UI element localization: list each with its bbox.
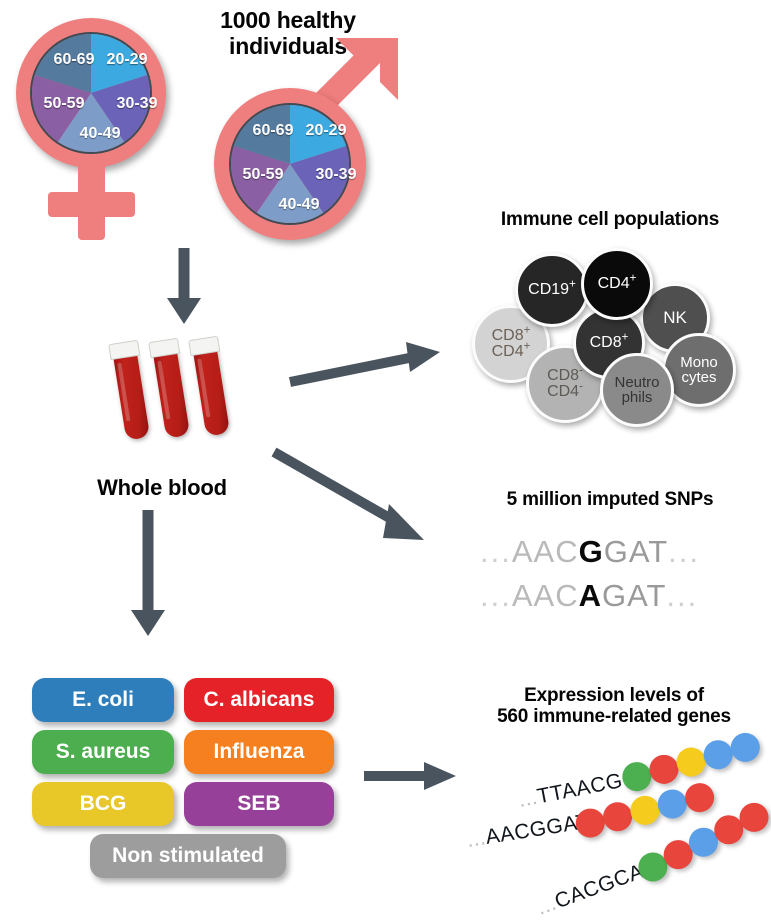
stimulation-pill-c-albicans[interactable]: C. albicans	[184, 678, 334, 722]
snp-ellipsis-right: ...	[668, 534, 700, 569]
female-pie-label-40-49: 40-49	[80, 125, 121, 143]
stimulation-pill-non-stimulated[interactable]: Non stimulated	[90, 834, 286, 878]
snp-panel-title: 5 million imputed SNPs	[465, 489, 755, 510]
male-pie-label-60-69: 60-69	[253, 122, 294, 140]
snp-prefix: AAC	[512, 534, 579, 569]
stimulation-pill-label: S. aureus	[56, 740, 151, 764]
immune-cell-label: CD19+	[528, 282, 576, 298]
snp-ellipsis-left: ...	[480, 534, 512, 569]
immune-cell-neutrophils: Neutro phils	[600, 353, 674, 427]
snp-prefix: AAC	[512, 578, 579, 613]
immune-cell-cd19: CD19+	[515, 253, 589, 327]
immune-cell-label-line2: cytes	[681, 370, 716, 385]
expression-strands: ...TTAACGG ...AACGGAT ...CACGCAA	[440, 740, 771, 922]
snp-variant-base: G	[579, 534, 604, 569]
arrow-cohort-to-blood	[162, 248, 206, 328]
male-pie-label-40-49: 40-49	[279, 196, 320, 214]
immune-cell-label-line2: phils	[622, 390, 653, 405]
stimulation-pill-label: Influenza	[213, 740, 304, 764]
stimulation-pill-e-coli[interactable]: E. coli	[32, 678, 174, 722]
stimulation-pill-label: SEB	[237, 792, 280, 816]
snp-ellipsis-left: ...	[480, 578, 512, 613]
stimulation-pill-label: E. coli	[72, 688, 134, 712]
expression-title-line1: Expression levels of	[458, 685, 770, 706]
snp-sequences: ...AACGGAT... ...AACAGAT...	[480, 528, 750, 628]
male-pie-label-20-29: 20-29	[306, 122, 347, 140]
whole-blood-label: Whole blood	[62, 476, 262, 501]
immune-cell-label: CD8+	[590, 335, 629, 351]
immune-cell-label-line1: CD8-	[547, 368, 583, 384]
snp-sequence-row: ...AACAGAT...	[480, 578, 698, 614]
expression-title-line2: 560 immune-related genes	[458, 706, 770, 727]
immune-cell-label-line2: CD4-	[547, 384, 583, 400]
stimulation-pill-bcg[interactable]: BCG	[32, 782, 174, 826]
immune-cell-label-line2: CD4+	[492, 344, 531, 360]
snp-sequence-row: ...AACGGAT...	[480, 534, 700, 570]
arrow-blood-to-snps	[272, 448, 442, 548]
stimulation-pill-influenza[interactable]: Influenza	[184, 730, 334, 774]
stimulation-pill-label: BCG	[80, 792, 127, 816]
male-pie-label-30-39: 30-39	[316, 166, 357, 184]
male-gender-symbol: 60-69 20-29 50-59 30-39 40-49	[206, 58, 416, 258]
stimulation-pill-label: Non stimulated	[112, 844, 264, 868]
immune-cell-label-line1: Mono	[680, 355, 718, 370]
strand-bead	[728, 730, 762, 764]
blood-tube	[188, 336, 233, 437]
blood-tube	[148, 338, 193, 439]
stimulation-panel: E. coli C. albicans S. aureus Influenza …	[32, 678, 342, 898]
snp-variant-base: A	[579, 578, 602, 613]
stimulation-pill-s-aureus[interactable]: S. aureus	[32, 730, 174, 774]
snp-suffix: GAT	[604, 534, 668, 569]
whole-blood-tubes	[100, 336, 250, 456]
immune-cell-cd4: CD4+	[581, 248, 653, 320]
female-pie-label-60-69: 60-69	[54, 51, 95, 69]
expression-panel-title: Expression levels of 560 immune-related …	[458, 685, 770, 728]
arrow-blood-to-immune-cells	[288, 340, 448, 390]
immune-cell-label: CD4+	[598, 276, 637, 292]
figure-canvas: 1000 healthy individuals 60-69 20-29 50-…	[0, 0, 771, 922]
snp-ellipsis-right: ...	[666, 578, 698, 613]
immune-cell-label-line1: Neutro	[614, 375, 659, 390]
snp-suffix: GAT	[602, 578, 666, 613]
arrow-blood-to-stimulation	[126, 510, 170, 640]
female-pie-label-50-59: 50-59	[44, 95, 85, 113]
female-symbol-crossbar	[48, 192, 135, 217]
stimulation-pill-seb[interactable]: SEB	[184, 782, 334, 826]
female-pie-label-30-39: 30-39	[117, 95, 158, 113]
immune-cell-label: NK	[663, 309, 687, 326]
male-pie-label-50-59: 50-59	[243, 166, 284, 184]
blood-tube	[108, 340, 153, 441]
female-gender-symbol: 60-69 20-29 50-59 30-39 40-49	[8, 14, 188, 244]
female-pie-label-20-29: 20-29	[107, 51, 148, 69]
stimulation-pill-label: C. albicans	[204, 688, 315, 712]
cohort-title-line1: 1000 healthy	[178, 8, 398, 34]
immune-cell-cluster: CD19+ CD4+ NK CD8+ CD4+ CD8+ CD8- CD4- N…	[470, 245, 755, 430]
immune-panel-title: Immune cell populations	[455, 209, 765, 230]
